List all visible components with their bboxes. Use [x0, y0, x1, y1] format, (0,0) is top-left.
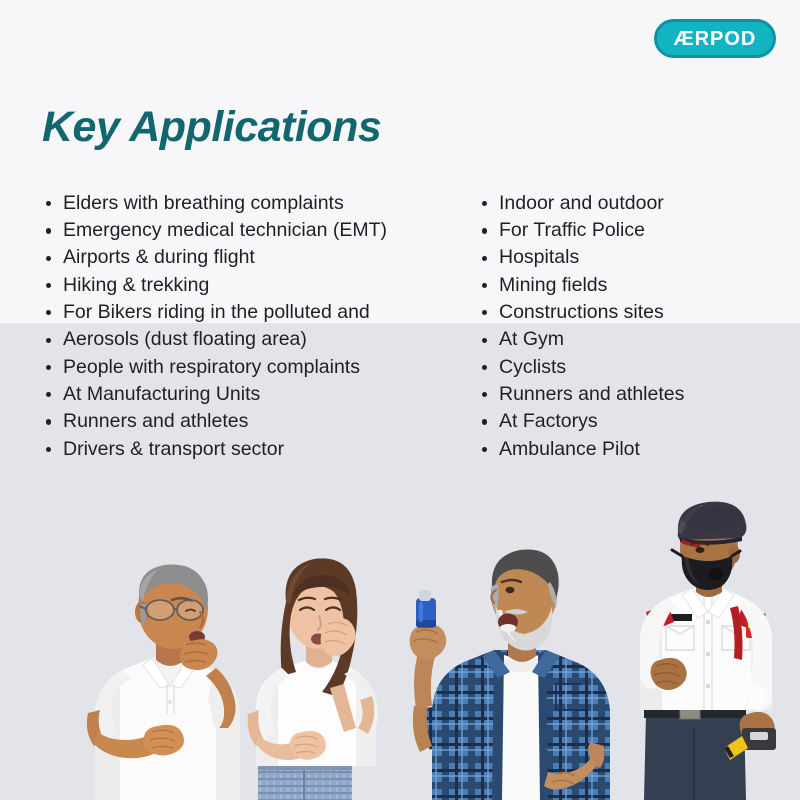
brand-logo[interactable]: ÆRPOD: [654, 19, 776, 58]
list-item: At Manufacturing Units: [44, 381, 464, 408]
list-item: Airports & during flight: [44, 245, 464, 272]
list-item: Cyclists: [480, 354, 780, 381]
poster-canvas: ÆRPOD Key Applications Elders with breat…: [0, 0, 800, 800]
applications-list-left: Elders with breathing complaints Emergen…: [44, 190, 464, 463]
list-item: Constructions sites: [480, 299, 780, 326]
page-title: Key Applications: [42, 104, 381, 151]
list-item: Elders with breathing complaints: [44, 190, 464, 217]
logo-pill-shape: ÆRPOD: [654, 19, 776, 58]
list-item: Mining fields: [480, 272, 780, 299]
list-item: Aerosols (dust floating area): [44, 326, 464, 353]
list-item: Hospitals: [480, 245, 780, 272]
list-item: Drivers & transport sector: [44, 436, 464, 463]
list-item: Hiking & trekking: [44, 272, 464, 299]
logo-wordmark: ÆRPOD: [674, 29, 757, 49]
photo-traffic-police-officer: [640, 502, 776, 800]
list-item: For Bikers riding in the polluted and: [44, 299, 464, 326]
list-item: People with respiratory complaints: [44, 354, 464, 381]
applications-list-right: Indoor and outdoor For Traffic Police Ho…: [480, 190, 780, 463]
photo-man-using-inhaler: [410, 550, 610, 800]
list-item: At Factorys: [480, 408, 780, 435]
list-item: Ambulance Pilot: [480, 436, 780, 463]
list-item: Indoor and outdoor: [480, 190, 780, 217]
list-item: At Gym: [480, 326, 780, 353]
photo-strip: [0, 470, 800, 800]
list-item: For Traffic Police: [480, 217, 780, 244]
photo-young-woman-sneezing: [248, 558, 378, 800]
list-item: Runners and athletes: [44, 408, 464, 435]
list-item: Emergency medical technician (EMT): [44, 217, 464, 244]
list-item: Runners and athletes: [480, 381, 780, 408]
photo-elderly-man-coughing: [87, 564, 240, 800]
